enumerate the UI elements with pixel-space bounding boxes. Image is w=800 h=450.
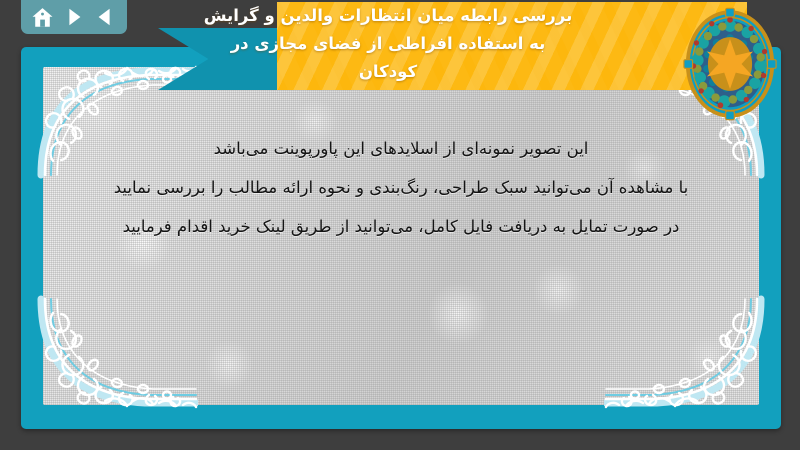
body-line-3: در صورت تمایل به دریافت فایل کامل، می‌تو… [61,207,741,246]
medallion-icon [682,6,778,122]
navigation-bar [21,0,127,34]
triangle-right-icon [63,6,85,28]
prev-slide-button[interactable] [92,4,118,30]
slide-body-text: این تصویر نمونه‌ای از اسلایدهای این پاور… [61,129,741,246]
next-slide-button[interactable] [61,4,87,30]
body-line-2: با مشاهده آن می‌توانید سبک طراحی، رنگ‌بن… [61,168,741,207]
islamic-medallion-ornament [682,6,778,122]
body-line-1: این تصویر نمونه‌ای از اسلایدهای این پاور… [61,129,741,168]
home-icon [31,6,54,29]
slide-frame: این تصویر نمونه‌ای از اسلایدهای این پاور… [21,47,781,429]
home-button[interactable] [30,4,56,30]
slide-stage: این تصویر نمونه‌ای از اسلایدهای این پاور… [0,0,800,450]
triangle-left-icon [94,6,116,28]
